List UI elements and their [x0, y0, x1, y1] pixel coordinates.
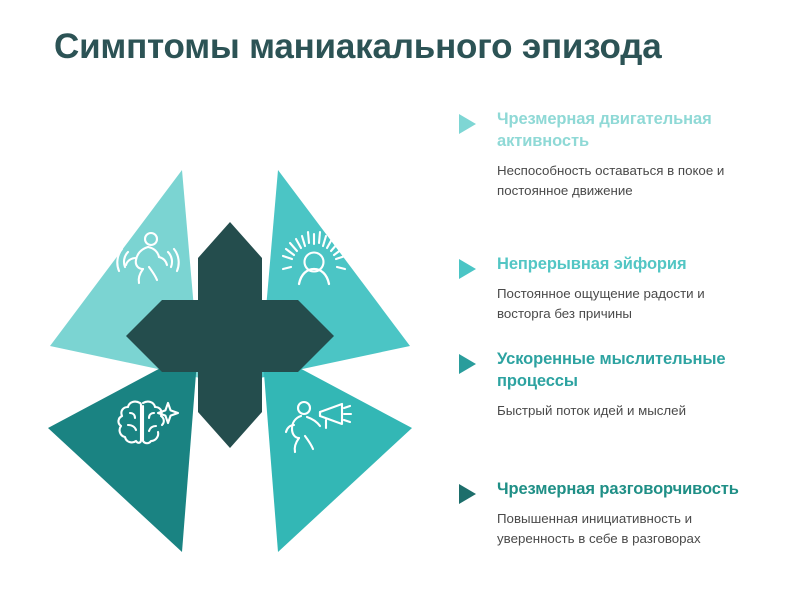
triangle-bullet-icon: [459, 484, 476, 504]
list-item[interactable]: Чрезмерная разговорчивость Повышенная ин…: [459, 478, 759, 548]
wedge-bottom-right[interactable]: [262, 348, 412, 552]
list-item[interactable]: Непрерывная эйфория Постоянное ощущение …: [459, 253, 759, 323]
wedge-bottom-left[interactable]: [48, 348, 198, 552]
symptom-description: Неспособность оставаться в покое и посто…: [497, 161, 759, 200]
page-title: Симптомы маниакального эпизода: [54, 27, 754, 67]
triangle-bullet-icon: [459, 114, 476, 134]
list-item[interactable]: Ускоренные мыслительные процессы Быстрый…: [459, 348, 759, 421]
symptom-heading: Ускоренные мыслительные процессы: [497, 348, 759, 392]
symptom-heading: Чрезмерная двигательная активность: [497, 108, 759, 152]
symptom-heading: Чрезмерная разговорчивость: [497, 478, 759, 500]
symptom-description: Постоянное ощущение радости и восторга б…: [497, 284, 759, 323]
symptom-diagram: [30, 150, 430, 570]
triangle-bullet-icon: [459, 259, 476, 279]
list-item[interactable]: Чрезмерная двигательная активность Неспо…: [459, 108, 759, 200]
symptom-heading: Непрерывная эйфория: [497, 253, 759, 275]
symptom-description: Повышенная инициативность и уверенность …: [497, 509, 759, 548]
symptom-description: Быстрый поток идей и мыслей: [497, 401, 759, 421]
triangle-bullet-icon: [459, 354, 476, 374]
infographic-page: Симптомы маниакального эпизода: [0, 0, 792, 610]
